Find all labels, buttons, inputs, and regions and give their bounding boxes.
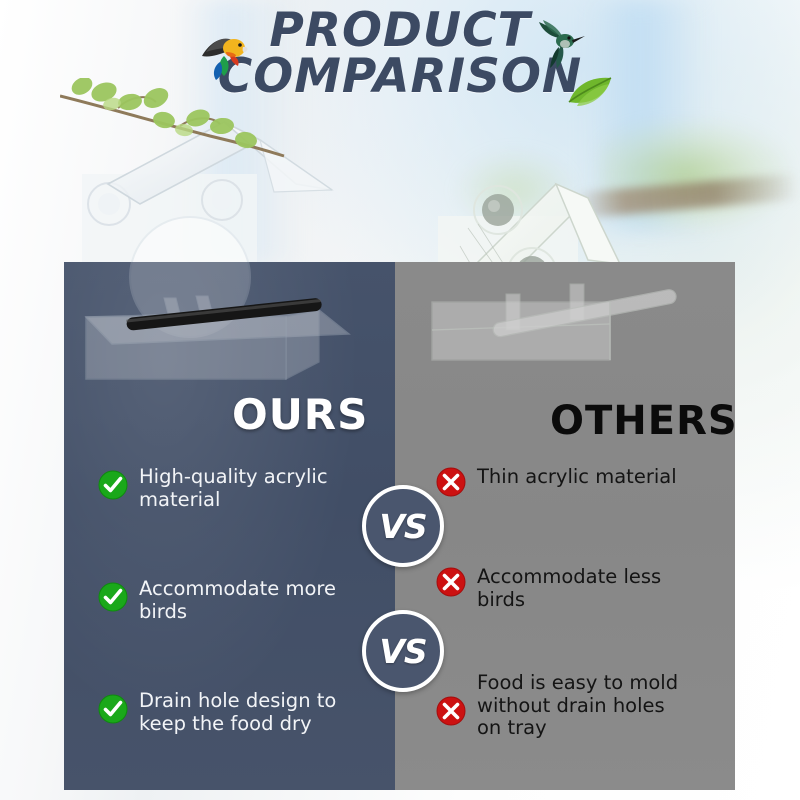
cross-icon [436, 467, 466, 497]
ours-label: OURS [232, 390, 368, 439]
product-comparison-infographic: PRODUCT COMPARISON [0, 0, 800, 800]
ours-feature-row-2: Accommodate more birds [98, 578, 366, 623]
ours-feature-text-2: Accommodate more birds [139, 578, 336, 623]
title-line-2: COMPARISON [0, 54, 800, 100]
ours-feature-row-1: High-quality acrylic material [98, 466, 366, 511]
check-icon [98, 582, 128, 612]
hummingbird-icon [535, 16, 589, 72]
others-feature-text-2: Accommodate less birds [477, 566, 661, 611]
vs-badge-2: VS [362, 610, 444, 692]
ours-feature-row-3: Drain hole design to keep the food dry [98, 690, 366, 735]
others-feature-row-2: Accommodate less birds [436, 566, 728, 611]
parrot-icon [196, 22, 254, 84]
cross-icon [436, 567, 466, 597]
check-icon [98, 470, 128, 500]
others-feature-row-3: Food is easy to mold without drain holes… [436, 672, 728, 740]
check-icon [98, 694, 128, 724]
others-label: OTHERS [550, 398, 738, 444]
others-feature-text-1: Thin acrylic material [477, 466, 677, 489]
vs-badge-label-1: VS [379, 507, 426, 546]
vs-badge-1: VS [362, 485, 444, 567]
title-line-1: PRODUCT [0, 8, 800, 54]
vs-badge-label-2: VS [379, 632, 426, 671]
ours-feature-text-1: High-quality acrylic material [139, 466, 328, 511]
cross-icon [436, 696, 466, 726]
ours-feature-text-3: Drain hole design to keep the food dry [139, 690, 336, 735]
others-feature-row-1: Thin acrylic material [436, 466, 728, 497]
leaf-icon [565, 72, 619, 112]
others-feature-text-3: Food is easy to mold without drain holes… [477, 672, 678, 740]
page-title: PRODUCT COMPARISON [0, 8, 800, 120]
